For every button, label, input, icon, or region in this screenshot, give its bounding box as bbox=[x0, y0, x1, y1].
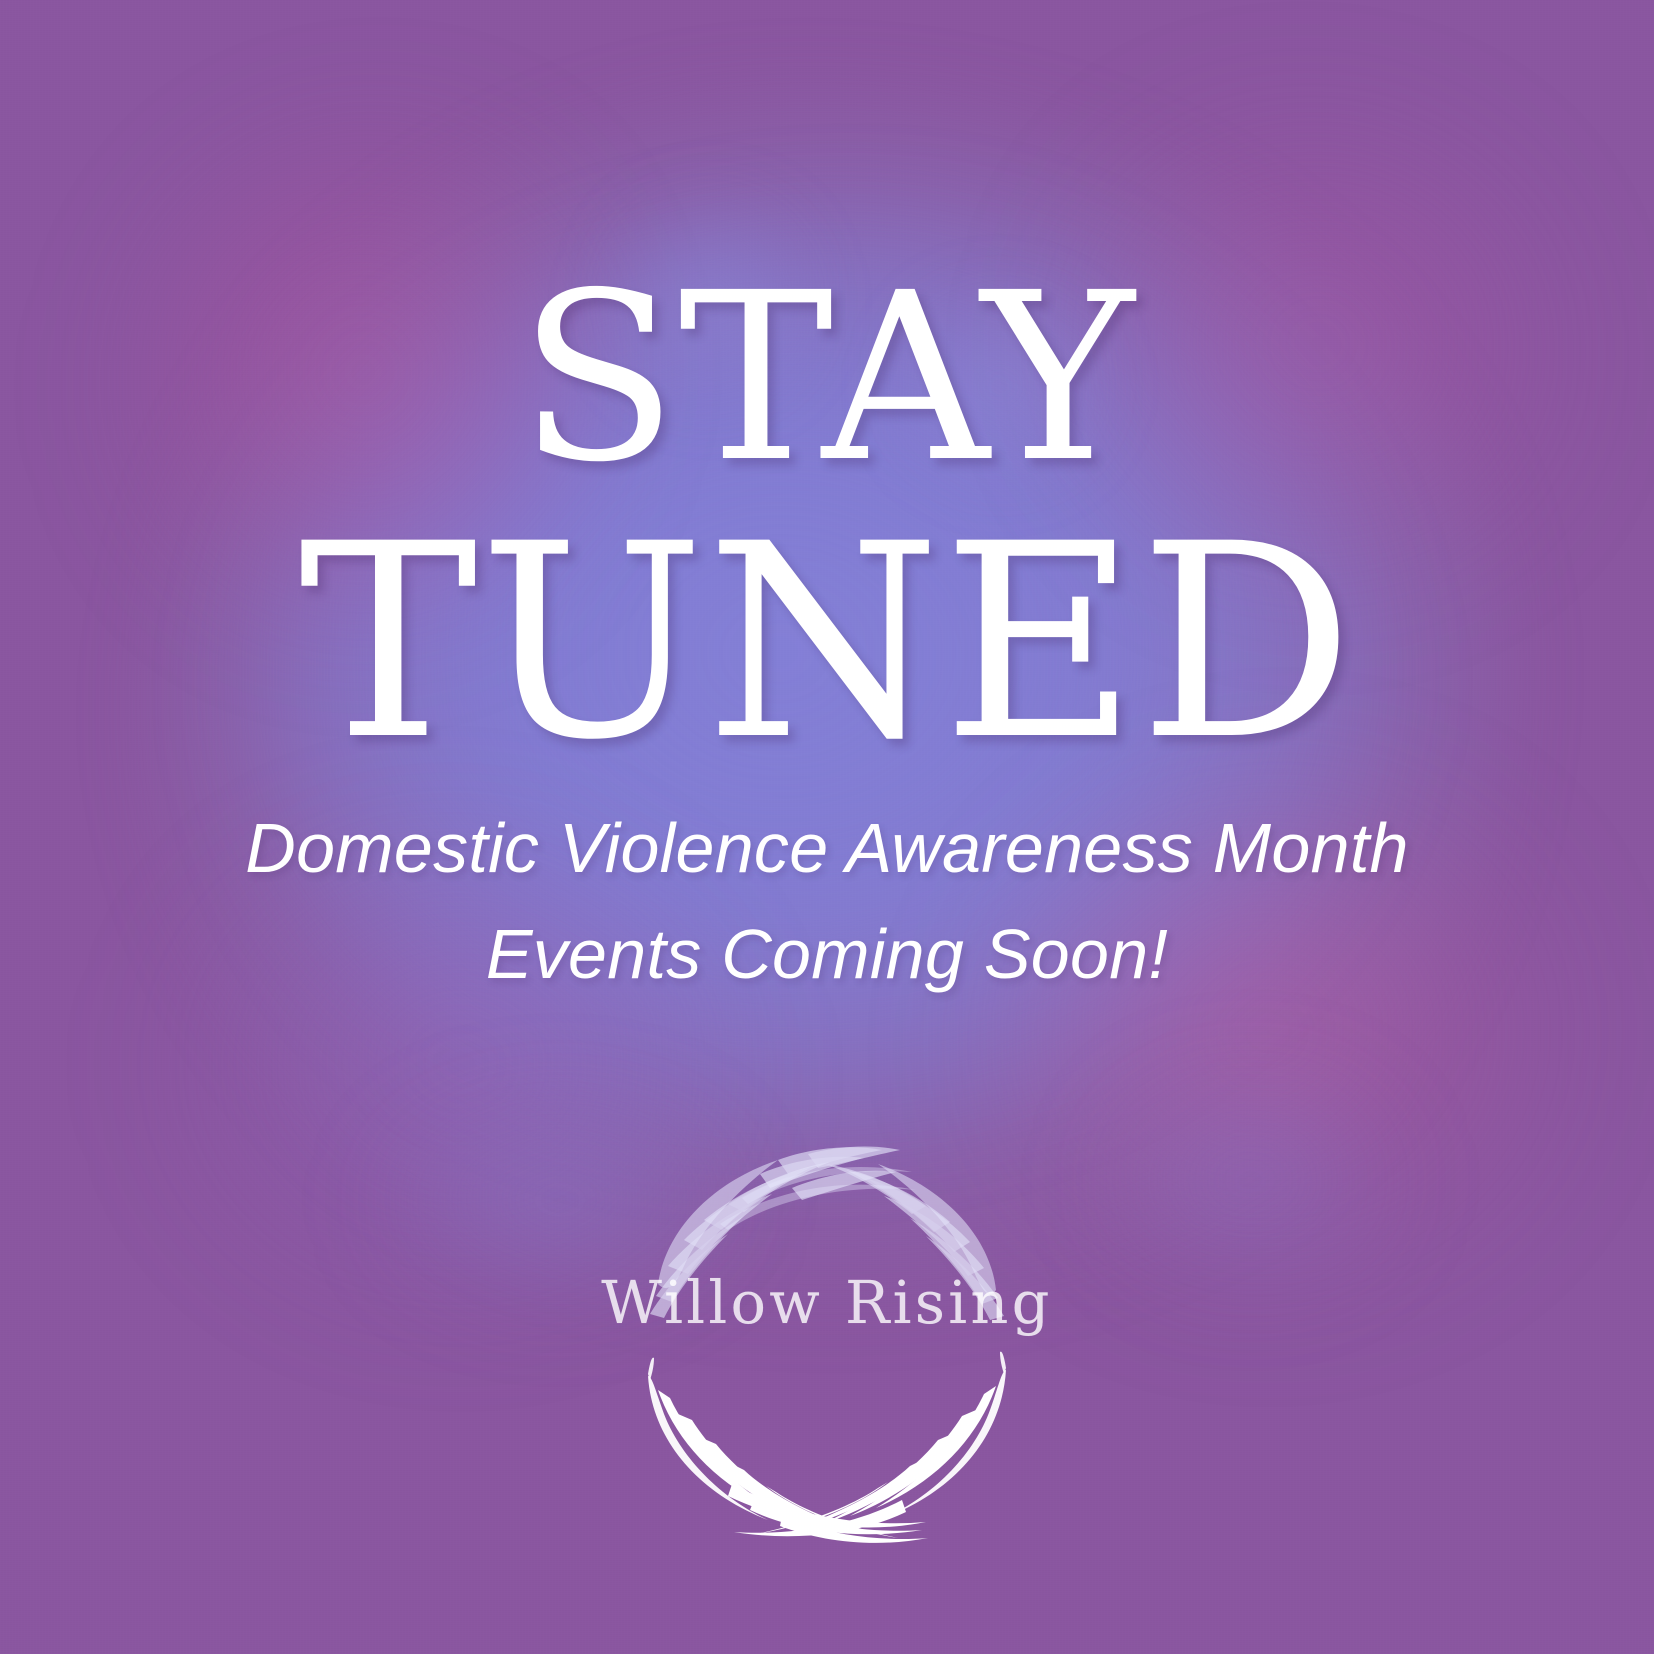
subtitle-line-2: Events Coming Soon! bbox=[0, 901, 1654, 1007]
headline-line-2: TUNED bbox=[0, 520, 1654, 767]
headline-line-1: STAY bbox=[0, 272, 1654, 485]
brand-wordmark: Willow Rising bbox=[0, 1268, 1654, 1337]
subtitle-line-1: Domestic Violence Awareness Month bbox=[0, 795, 1654, 901]
willow-branch-arc-bottom bbox=[648, 1352, 1006, 1543]
poster-canvas: STAY TUNED Domestic Violence Awareness M… bbox=[0, 0, 1654, 1654]
poster-content: STAY TUNED Domestic Violence Awareness M… bbox=[0, 0, 1654, 1654]
subtitle-block: Domestic Violence Awareness Month Events… bbox=[0, 795, 1654, 1008]
